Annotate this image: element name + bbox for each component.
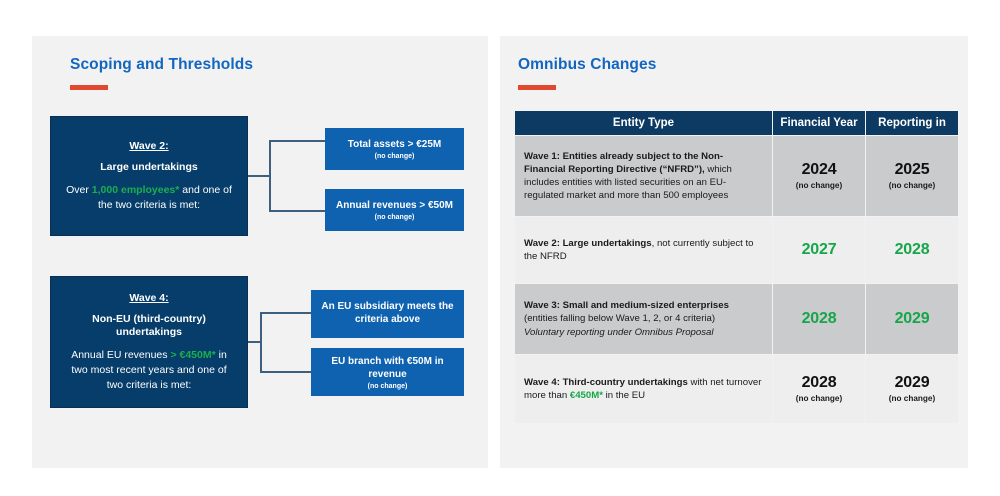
wave4-entity-highlight: €450M* xyxy=(570,390,603,401)
wave2-criteria-1-label: Total assets > €25M xyxy=(348,138,441,151)
wave4-criteria-2-label: EU branch with €50M in revenue xyxy=(319,355,456,381)
wave3-entity-bold: Wave 3: Small and medium-sized enterpris… xyxy=(524,300,729,311)
wave4-financial-year: 2028 xyxy=(775,374,863,392)
page-title-omnibus: Omnibus Changes xyxy=(518,56,656,74)
panel-scoping-and-thresholds: Scoping and Thresholds Wave 2: Large und… xyxy=(32,36,488,468)
panel-omnibus-changes: Omnibus Changes Entity Type Financial Ye… xyxy=(500,36,968,468)
wave4-financial-year-note: (no change) xyxy=(775,393,863,404)
wave2-entity-bold: Wave 2: Large undertakings xyxy=(524,238,652,249)
wave2-heading: Wave 2: xyxy=(129,140,168,152)
wave4-subheading: Non-EU (third-country) undertakings xyxy=(59,313,239,339)
accent-rule-right xyxy=(518,85,556,90)
cell-reporting-in-wave4: 2029 (no change) xyxy=(866,355,958,423)
cell-financial-year-wave1: 2024 (no change) xyxy=(773,136,865,216)
column-header-reporting-in: Reporting in xyxy=(866,111,958,135)
wave3-financial-year: 2028 xyxy=(775,310,863,328)
wave2-box: Wave 2: Large undertakings Over 1,000 em… xyxy=(50,116,248,236)
wave1-reporting-in: 2025 xyxy=(868,161,956,179)
connector-wave4-branch-1 xyxy=(260,312,312,314)
wave4-reporting-in-note: (no change) xyxy=(868,393,956,404)
wave4-reporting-in: 2029 xyxy=(868,374,956,392)
table-row: Wave 2: Large undertakings, not currentl… xyxy=(515,217,958,283)
wave2-subheading: Large undertakings xyxy=(100,161,197,174)
table-row: Wave 1: Entities already subject to the … xyxy=(515,136,958,216)
wave4-box: Wave 4: Non-EU (third-country) undertaki… xyxy=(50,276,248,408)
cell-financial-year-wave4: 2028 (no change) xyxy=(773,355,865,423)
wave3-entity-rest: (entities falling below Wave 1, 2, or 4 … xyxy=(524,313,715,324)
cell-financial-year-wave3: 2028 xyxy=(773,284,865,354)
page-title-scoping: Scoping and Thresholds xyxy=(70,56,253,74)
wave4-body-highlight: > €450M* xyxy=(170,349,215,361)
connector-wave2-branch-2 xyxy=(269,210,326,212)
wave4-body-pre: Annual EU revenues xyxy=(71,349,170,361)
cell-entity-type-wave3: Wave 3: Small and medium-sized enterpris… xyxy=(515,284,772,354)
column-header-financial-year: Financial Year xyxy=(773,111,865,135)
wave2-financial-year: 2027 xyxy=(775,241,863,259)
wave4-heading: Wave 4: xyxy=(129,292,168,304)
connector-wave2-spine xyxy=(269,140,271,211)
table-header-row: Entity Type Financial Year Reporting in xyxy=(515,111,958,135)
wave3-reporting-in: 2029 xyxy=(868,310,956,328)
wave3-entity-italic: Voluntary reporting under Omnibus Propos… xyxy=(524,327,714,338)
omnibus-changes-table: Entity Type Financial Year Reporting in … xyxy=(514,110,959,424)
wave4-criteria-2-note: (no change) xyxy=(368,383,408,390)
wave1-reporting-in-note: (no change) xyxy=(868,180,956,191)
wave4-entity-tail: in the EU xyxy=(603,390,645,401)
wave2-body-pre: Over xyxy=(66,184,92,196)
cell-reporting-in-wave1: 2025 (no change) xyxy=(866,136,958,216)
wave2-reporting-in: 2028 xyxy=(868,241,956,259)
wave4-criteria-box-2: EU branch with €50M in revenue (no chang… xyxy=(311,348,464,396)
connector-wave2-stem xyxy=(248,175,270,177)
table-row: Wave 3: Small and medium-sized enterpris… xyxy=(515,284,958,354)
wave1-financial-year: 2024 xyxy=(775,161,863,179)
cell-reporting-in-wave3: 2029 xyxy=(866,284,958,354)
column-header-entity-type: Entity Type xyxy=(515,111,772,135)
cell-entity-type-wave1: Wave 1: Entities already subject to the … xyxy=(515,136,772,216)
cell-entity-type-wave2: Wave 2: Large undertakings, not currentl… xyxy=(515,217,772,283)
connector-wave4-spine xyxy=(260,312,262,372)
cell-entity-type-wave4: Wave 4: Third-country undertakings with … xyxy=(515,355,772,423)
wave2-criteria-box-2: Annual revenues > €50M (no change) xyxy=(325,189,464,231)
wave2-criteria-box-1: Total assets > €25M (no change) xyxy=(325,128,464,170)
wave4-criteria-box-1: An EU subsidiary meets the criteria abov… xyxy=(311,290,464,338)
connector-wave4-branch-2 xyxy=(260,371,312,373)
wave2-body-highlight: 1,000 employees* xyxy=(92,184,180,196)
connector-wave2-branch-1 xyxy=(269,140,326,142)
wave4-entity-bold: Wave 4: Third-country undertakings xyxy=(524,377,688,388)
wave1-financial-year-note: (no change) xyxy=(775,180,863,191)
cell-financial-year-wave2: 2027 xyxy=(773,217,865,283)
table-row: Wave 4: Third-country undertakings with … xyxy=(515,355,958,423)
wave2-criteria-2-label: Annual revenues > €50M xyxy=(336,199,453,212)
wave4-criteria-1-label: An EU subsidiary meets the criteria abov… xyxy=(319,300,456,326)
accent-rule-left xyxy=(70,85,108,90)
slide-canvas: Scoping and Thresholds Wave 2: Large und… xyxy=(0,0,1000,496)
wave2-criteria-2-note: (no change) xyxy=(375,214,415,221)
wave4-body: Annual EU revenues > €450M* in two most … xyxy=(59,348,239,393)
wave2-criteria-1-note: (no change) xyxy=(375,153,415,160)
cell-reporting-in-wave2: 2028 xyxy=(866,217,958,283)
wave1-entity-bold: Wave 1: Entities already subject to the … xyxy=(524,151,723,175)
wave2-body: Over 1,000 employees* and one of the two… xyxy=(59,183,239,213)
